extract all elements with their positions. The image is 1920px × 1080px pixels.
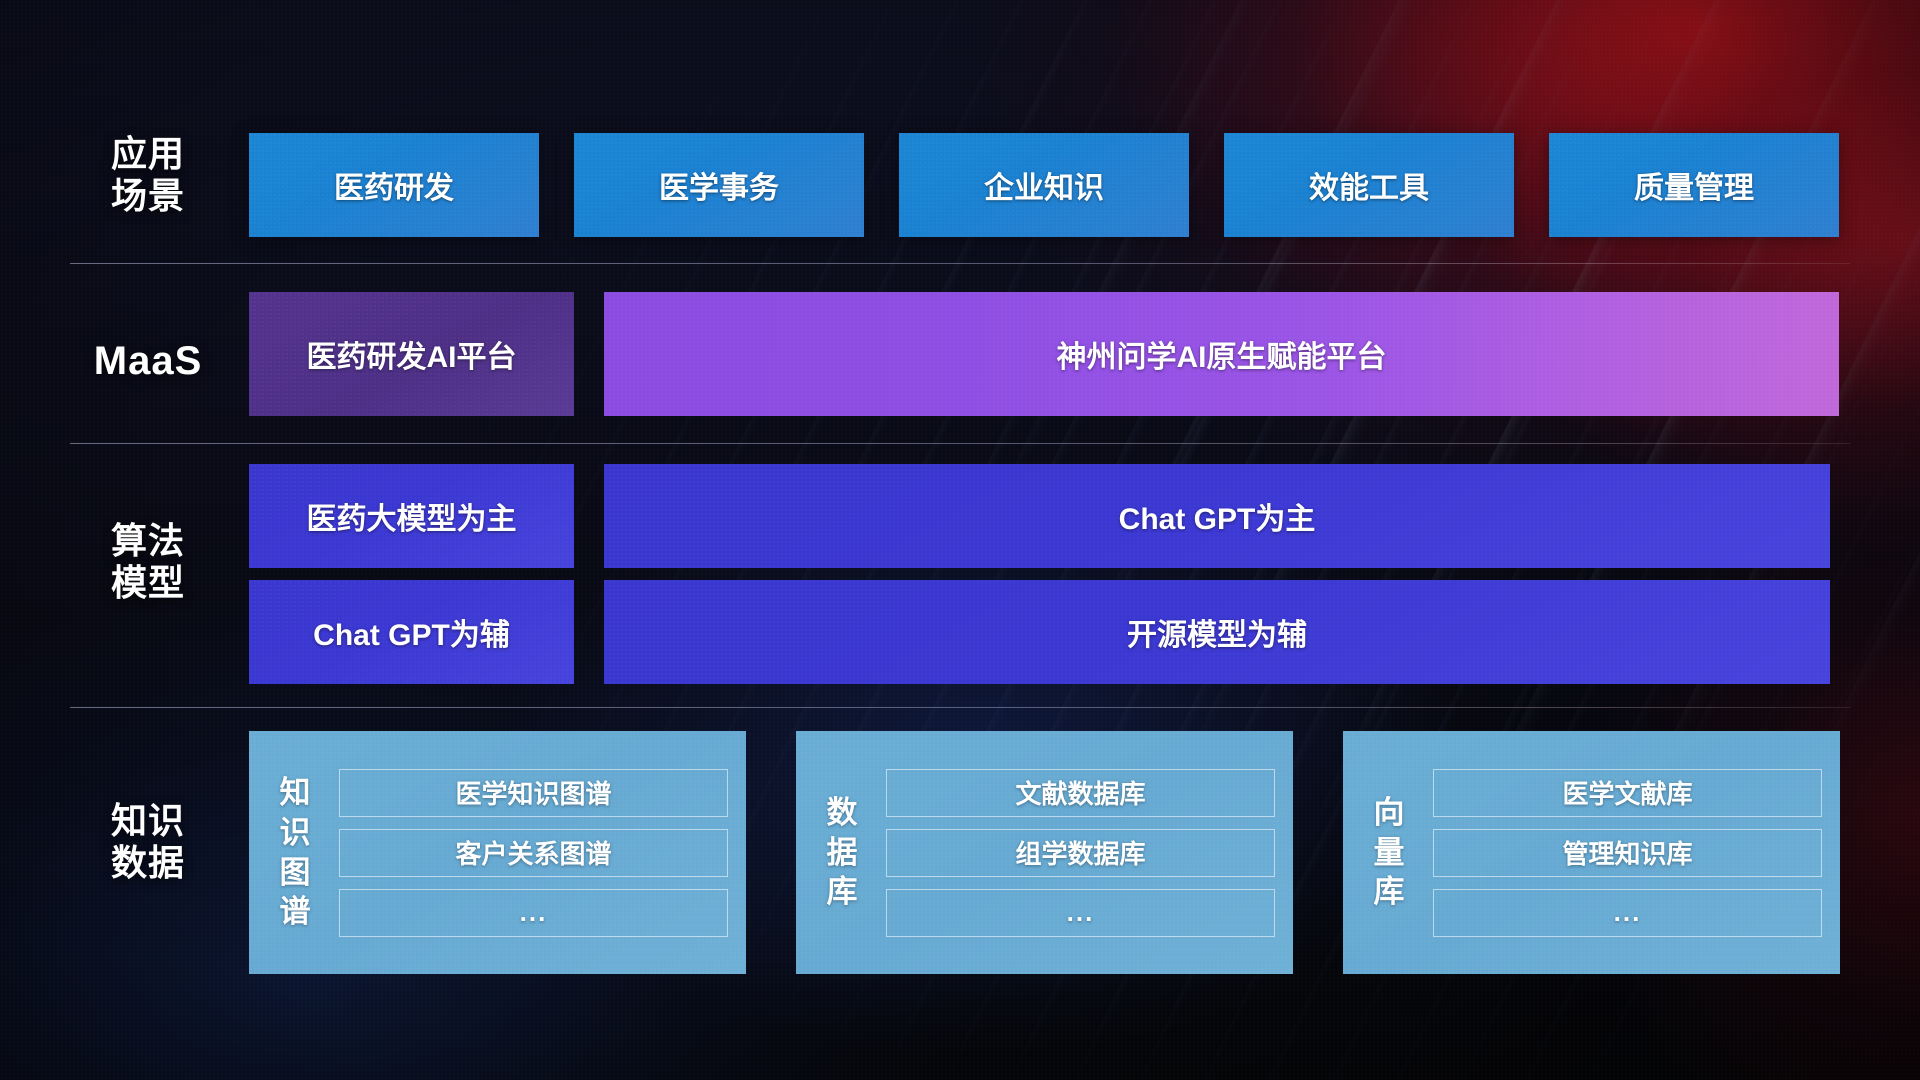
maas-box-drug-rd-ai-platform[interactable]: 医药研发AI平台 — [249, 292, 574, 416]
app-box-label: 企业知识 — [984, 163, 1104, 207]
algo-box-label: Chat GPT为主 — [1119, 494, 1316, 538]
app-box-label: 医药研发 — [334, 163, 454, 207]
architecture-diagram: 应用 场景 医药研发 医学事务 企业知识 效能工具 质量管理 MaaS 医药研发… — [0, 0, 1920, 1080]
row-label-line: 场景 — [78, 175, 218, 217]
row-label-line: MaaS — [78, 338, 218, 384]
knowledge-item[interactable]: 客户关系图谱 — [339, 829, 728, 877]
maas-box-label: 神州问学AI原生赋能平台 — [1057, 332, 1387, 376]
maas-box-label: 医药研发AI平台 — [307, 332, 517, 376]
knowledge-item[interactable]: 组学数据库 — [886, 829, 1275, 877]
divider-maas-algorithm — [70, 443, 1850, 444]
algo-box-label: 开源模型为辅 — [1127, 610, 1307, 654]
row-label-application: 应用 场景 — [78, 133, 218, 217]
knowledge-panel-knowledge-graph[interactable]: 知 识 图 谱 医学知识图谱 客户关系图谱 ... — [249, 731, 746, 974]
knowledge-item-more[interactable]: ... — [1433, 889, 1822, 937]
algo-box-label: Chat GPT为辅 — [313, 610, 510, 654]
knowledge-panel-label: 向 量 库 — [1361, 793, 1417, 912]
label-char: 量 — [1374, 833, 1405, 873]
knowledge-item-more[interactable]: ... — [886, 889, 1275, 937]
row-label-line: 应用 — [78, 133, 218, 175]
knowledge-panel-vector-store[interactable]: 向 量 库 医学文献库 管理知识库 ... — [1343, 731, 1840, 974]
label-char: 向 — [1374, 793, 1405, 833]
knowledge-item[interactable]: 医学知识图谱 — [339, 769, 728, 817]
label-char: 知 — [280, 773, 311, 813]
row-label-knowledge: 知识 数据 — [78, 800, 218, 884]
knowledge-panel-label: 数 据 库 — [814, 793, 870, 912]
algo-box-pharma-llm-primary[interactable]: 医药大模型为主 — [249, 464, 574, 568]
knowledge-item[interactable]: 医学文献库 — [1433, 769, 1822, 817]
app-box-enterprise-knowledge[interactable]: 企业知识 — [899, 133, 1189, 237]
knowledge-item-more[interactable]: ... — [339, 889, 728, 937]
knowledge-panel-label: 知 识 图 谱 — [267, 773, 323, 932]
algo-box-chatgpt-secondary[interactable]: Chat GPT为辅 — [249, 580, 574, 684]
label-char: 谱 — [280, 892, 311, 932]
slide-canvas: 应用 场景 医药研发 医学事务 企业知识 效能工具 质量管理 MaaS 医药研发… — [0, 0, 1920, 1080]
knowledge-panel-items: 医学文献库 管理知识库 ... — [1433, 769, 1822, 937]
row-label-algorithm: 算法 模型 — [78, 520, 218, 604]
row-label-line: 模型 — [78, 562, 218, 604]
algo-box-chatgpt-primary[interactable]: Chat GPT为主 — [604, 464, 1830, 568]
label-char: 数 — [827, 793, 858, 833]
app-box-efficiency-tools[interactable]: 效能工具 — [1224, 133, 1514, 237]
app-box-label: 质量管理 — [1634, 163, 1754, 207]
app-box-medical-affairs[interactable]: 医学事务 — [574, 133, 864, 237]
knowledge-item[interactable]: 文献数据库 — [886, 769, 1275, 817]
knowledge-panel-database[interactable]: 数 据 库 文献数据库 组学数据库 ... — [796, 731, 1293, 974]
app-box-label: 医学事务 — [659, 163, 779, 207]
row-label-line: 数据 — [78, 842, 218, 884]
label-char: 识 — [280, 813, 311, 853]
app-box-label: 效能工具 — [1309, 163, 1429, 207]
row-label-maas: MaaS — [78, 338, 218, 384]
app-box-quality-management[interactable]: 质量管理 — [1549, 133, 1839, 237]
algo-box-opensource-secondary[interactable]: 开源模型为辅 — [604, 580, 1830, 684]
algo-box-label: 医药大模型为主 — [307, 494, 517, 538]
label-char: 库 — [1374, 872, 1405, 912]
divider-application-maas — [70, 263, 1850, 264]
row-label-line: 算法 — [78, 520, 218, 562]
row-label-line: 知识 — [78, 800, 218, 842]
label-char: 库 — [827, 872, 858, 912]
app-box-drug-rd[interactable]: 医药研发 — [249, 133, 539, 237]
knowledge-item[interactable]: 管理知识库 — [1433, 829, 1822, 877]
label-char: 图 — [280, 853, 311, 893]
maas-box-shenzhou-wenxue-platform[interactable]: 神州问学AI原生赋能平台 — [604, 292, 1839, 416]
label-char: 据 — [827, 833, 858, 873]
knowledge-panel-items: 文献数据库 组学数据库 ... — [886, 769, 1275, 937]
divider-algorithm-knowledge — [70, 707, 1850, 708]
knowledge-panel-items: 医学知识图谱 客户关系图谱 ... — [339, 769, 728, 937]
